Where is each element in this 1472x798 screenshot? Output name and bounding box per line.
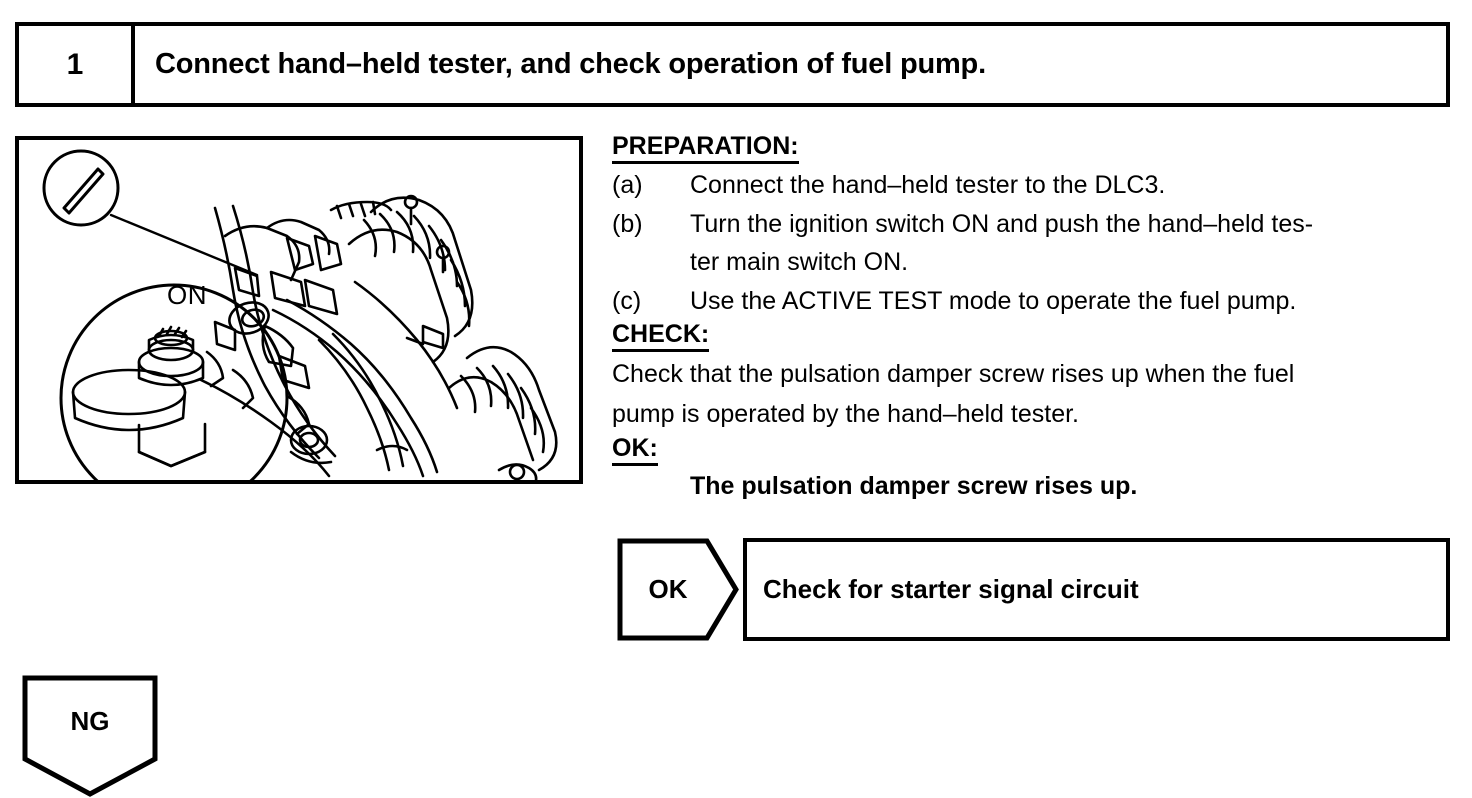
ng-branch-shape[interactable]: NG	[22, 675, 158, 797]
ok-arrow-label: OK	[617, 538, 719, 641]
ok-result-box[interactable]: Check for starter signal circuit	[743, 538, 1450, 641]
preparation-step-b-continued-label	[612, 243, 690, 282]
step-title-cell: Connect hand–held tester, and check oper…	[135, 26, 1446, 103]
check-heading-row: CHECK:	[612, 320, 1457, 352]
preparation-step-b-continued: ter main switch ON.	[612, 243, 1457, 282]
engine-compartment-diagram	[19, 140, 579, 480]
ng-label: NG	[22, 675, 158, 767]
preparation-step-b: (b) Turn the ignition switch ON and push…	[612, 205, 1457, 244]
step-number-cell: 1	[19, 26, 135, 103]
preparation-step-c: (c) Use the ACTIVE TEST mode to operate …	[612, 282, 1457, 321]
figure-on-label: ON	[167, 280, 207, 311]
ok-arrow-shape[interactable]: OK	[617, 538, 739, 641]
ok-result-label: Check for starter signal circuit	[763, 574, 1139, 605]
instruction-content-column: PREPARATION: (a) Connect the hand–held t…	[612, 132, 1457, 506]
preparation-step-b-text: Turn the ignition switch ON and push the…	[690, 205, 1457, 244]
ok-branch-row: OK Check for starter signal circuit	[617, 538, 1450, 641]
preparation-step-a: (a) Connect the hand–held tester to the …	[612, 166, 1457, 205]
ok-heading-row: OK:	[612, 434, 1457, 466]
figure-panel: ON BE6653 A02330 Y A02405	[15, 136, 583, 484]
preparation-heading-row: PREPARATION:	[612, 132, 1457, 164]
check-heading: CHECK:	[612, 320, 709, 352]
ok-heading: OK:	[612, 434, 658, 466]
preparation-step-c-text: Use the ACTIVE TEST mode to operate the …	[690, 282, 1457, 321]
preparation-step-b-continued-text: ter main switch ON.	[690, 243, 1457, 282]
step-header-bar: 1 Connect hand–held tester, and check op…	[15, 22, 1450, 107]
check-line-2: pump is operated by the hand–held tester…	[612, 394, 1457, 434]
preparation-heading: PREPARATION:	[612, 132, 799, 164]
step-number: 1	[67, 48, 84, 82]
step-title: Connect hand–held tester, and check oper…	[155, 48, 986, 81]
preparation-step-a-text: Connect the hand–held tester to the DLC3…	[690, 166, 1457, 205]
ok-statement: The pulsation damper screw rises up.	[690, 468, 1457, 506]
preparation-step-a-label: (a)	[612, 166, 690, 205]
preparation-step-c-label: (c)	[612, 282, 690, 321]
preparation-step-b-label: (b)	[612, 205, 690, 244]
check-line-1: Check that the pulsation damper screw ri…	[612, 354, 1457, 394]
